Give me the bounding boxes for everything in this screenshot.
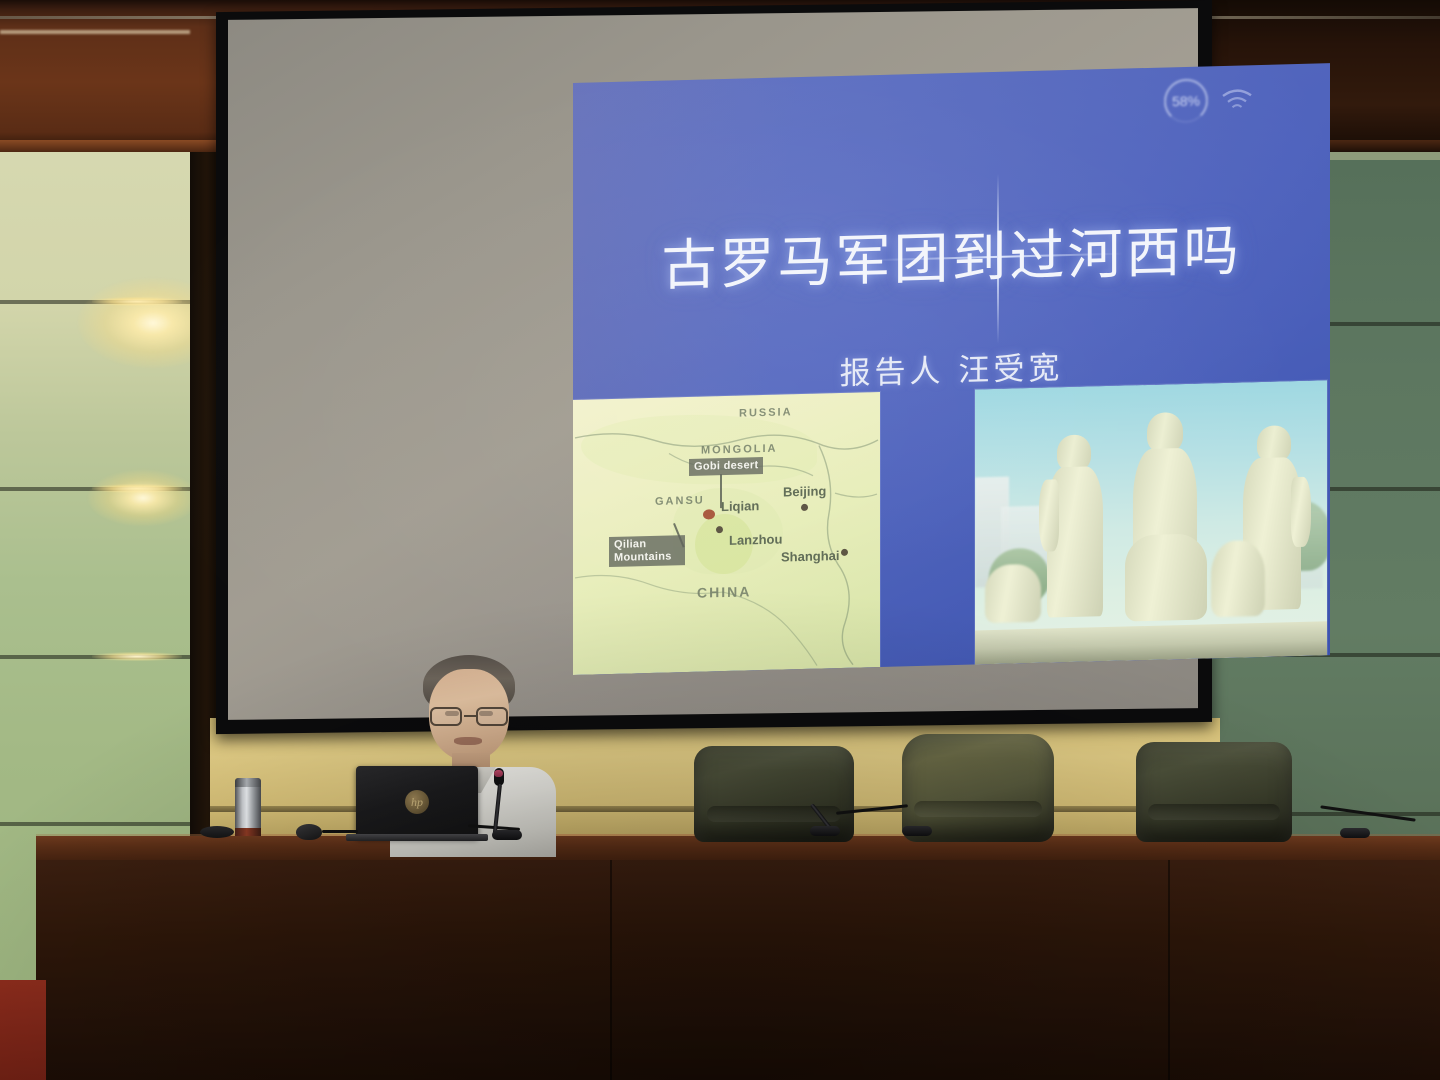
statue-animal-right: [1211, 540, 1265, 617]
mic-stem: [493, 784, 502, 834]
statue-right-head: [1257, 425, 1291, 462]
table-microphone-4[interactable]: [1336, 806, 1380, 840]
hp-logo-icon: hp: [405, 790, 429, 814]
table-mic-2-base: [810, 826, 840, 836]
statue-right-arm: [1291, 477, 1311, 548]
desk-puck-object[interactable]: [200, 826, 234, 838]
map-city-lanzhou: Lanzhou: [729, 532, 782, 548]
roman-legion-statues-photo: [975, 380, 1327, 664]
statue-middle-robe: [1125, 533, 1207, 621]
lecture-hall-room: 古罗马军团到过河西吗 报告人 汪受宽 58%: [0, 0, 1440, 1080]
ceiling-light-streak: [0, 30, 190, 34]
thermos-cap: [235, 778, 261, 787]
map-callout-gobi-desert: Gobi desert: [689, 457, 763, 476]
desk-front-panel: [36, 860, 1440, 1080]
presenter-glasses-icon: [429, 707, 509, 727]
chair-right-seatline: [1148, 804, 1279, 820]
statue-left-arm: [1039, 479, 1059, 552]
map-label-gansu: GANSU: [655, 495, 705, 508]
table-microphone-3[interactable]: [898, 800, 942, 838]
presenter-mouth: [454, 737, 482, 745]
mic-base: [492, 830, 522, 840]
mouse-cable: [322, 830, 358, 833]
table-microphone-2[interactable]: [806, 798, 854, 838]
battery-percent-indicator: 58%: [1164, 78, 1208, 123]
presentation-slide: 古罗马军团到过河西吗 报告人 汪受宽 58%: [573, 63, 1330, 675]
wood-panel-base-left: [0, 140, 250, 152]
map-inner: RUSSIA MONGOLIA GANSU CHINA Gobi desert …: [573, 392, 880, 675]
map-label-china: CHINA: [697, 583, 751, 600]
table-mic-3-base: [902, 826, 932, 836]
mic-tip: [494, 770, 503, 777]
screenshot-stage: 古罗马军团到过河西吗 报告人 汪受宽 58%: [0, 0, 1440, 1080]
thermos-flask[interactable]: [235, 778, 261, 836]
map-label-mongolia: MONGOLIA: [701, 443, 778, 457]
map-city-shanghai: Shanghai: [781, 548, 840, 565]
laptop-base: [346, 834, 488, 841]
floor-carpet: [0, 980, 46, 1080]
statue-middle-head: [1147, 412, 1183, 453]
table-mic-4-base: [1340, 828, 1370, 838]
thermos-base: [235, 828, 261, 836]
map-callout-qilian-mountains: Qilian Mountains: [609, 535, 685, 567]
gooseneck-microphone[interactable]: [488, 768, 548, 840]
statue-animal-left: [985, 564, 1041, 623]
map-border-lines: [573, 392, 880, 675]
map-label-russia: RUSSIA: [739, 406, 793, 419]
desk-seam-1: [610, 860, 612, 1080]
hp-laptop[interactable]: hp: [356, 766, 478, 838]
chair-right: [1136, 742, 1292, 842]
slide-hud-overlay: 58%: [1164, 77, 1274, 126]
map-city-beijing: Beijing: [783, 483, 826, 499]
wall-lamp-glow-left-2: [88, 470, 198, 526]
projector-screen-surface: 古罗马军团到过河西吗 报告人 汪受宽 58%: [228, 8, 1198, 720]
wifi-icon: [1220, 87, 1254, 114]
computer-mouse[interactable]: [296, 824, 322, 840]
china-map-image: RUSSIA MONGOLIA GANSU CHINA Gobi desert …: [573, 392, 880, 675]
map-city-liqian: Liqian: [721, 498, 759, 514]
desk-seam-2: [1168, 860, 1170, 1080]
